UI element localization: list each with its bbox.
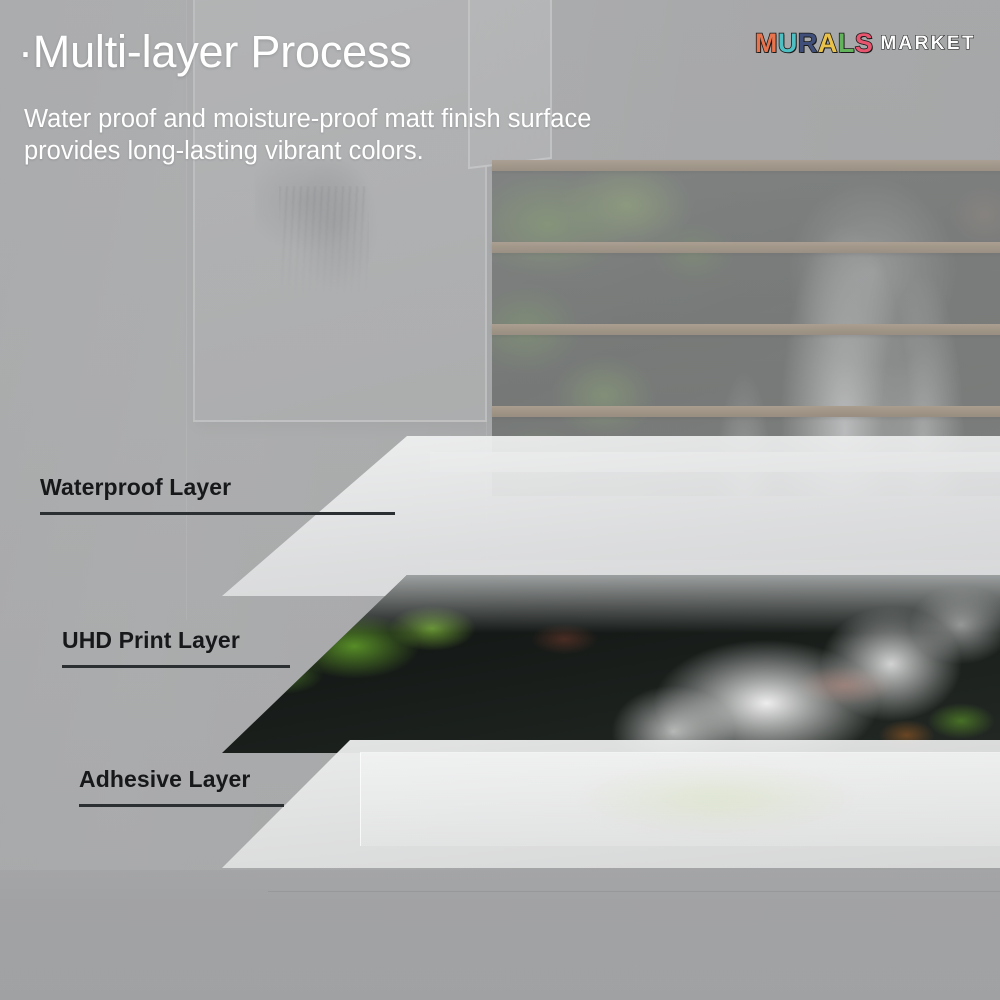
brand-logo-letter: A bbox=[818, 30, 838, 57]
page-title: ·Multi-layer Process bbox=[18, 26, 412, 78]
callout-uhd-print-layer: UHD Print Layer bbox=[62, 627, 290, 668]
callout-waterproof-layer: Waterproof Layer bbox=[40, 474, 395, 515]
brand-logo-letter: U bbox=[778, 30, 798, 57]
callout-rule bbox=[79, 804, 284, 807]
page-subtitle: Water proof and moisture-proof matt fini… bbox=[24, 104, 591, 168]
brand-logo[interactable]: MURALS MARKET bbox=[755, 30, 976, 57]
callout-label-text: UHD Print Layer bbox=[62, 627, 290, 654]
product-infographic: ·Multi-layer Process Water proof and moi… bbox=[0, 0, 1000, 1000]
adhesive-layer-inner-edge bbox=[360, 752, 1000, 846]
callout-label-text: Adhesive Layer bbox=[79, 766, 284, 793]
callout-rule bbox=[40, 512, 395, 515]
brand-logo-murals: MURALS bbox=[755, 30, 874, 57]
brand-logo-letter: L bbox=[838, 30, 855, 57]
subtitle-line-2: provides long-lasting vibrant colors. bbox=[24, 136, 591, 168]
brand-logo-letter: S bbox=[855, 30, 874, 57]
brand-logo-market: MARKET bbox=[880, 34, 976, 53]
callout-label-text: Waterproof Layer bbox=[40, 474, 395, 501]
brand-logo-letter: M bbox=[755, 30, 778, 57]
brand-logo-letter: R bbox=[798, 30, 818, 57]
callout-rule bbox=[62, 665, 290, 668]
callout-adhesive-layer: Adhesive Layer bbox=[79, 766, 284, 807]
adhesive-layer-slab bbox=[222, 740, 1000, 868]
subtitle-line-1: Water proof and moisture-proof matt fini… bbox=[24, 104, 591, 136]
